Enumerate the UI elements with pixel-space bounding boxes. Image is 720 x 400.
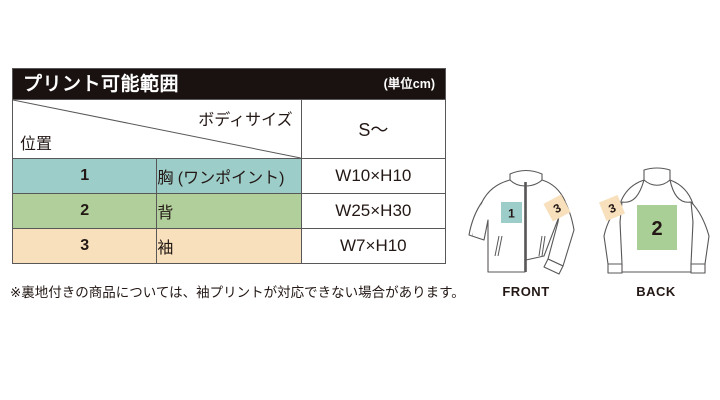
jacket-back-figure-icon: 2 3 [592, 160, 720, 282]
row-size-value: W25×H30 [301, 194, 445, 229]
back-caption: BACK [592, 284, 720, 299]
front-caption: FRONT [462, 284, 590, 299]
row-position: 背 [157, 194, 301, 229]
row-position: 胸 (ワンポイント) [157, 159, 301, 194]
footnote: ※裏地付きの商品については、袖プリントが対応できない場合があります。 [10, 284, 465, 302]
unit-note: (単位cm) [384, 78, 435, 91]
row-size-value: W7×H10 [301, 229, 445, 264]
row-position: 袖 [157, 229, 301, 264]
print-zone-marker-1-label: 1 [508, 207, 515, 221]
table-row: 1 胸 (ワンポイント) W10×H10 [13, 159, 446, 194]
row-number: 1 [13, 159, 157, 194]
position-label: 位置 [20, 130, 52, 154]
body-size-label: ボディサイズ [198, 106, 292, 130]
back-illustration: 2 3 BACK [592, 160, 720, 299]
table-row: 2 背 W25×H30 [13, 194, 446, 229]
page-title: プリント可能範囲 [23, 75, 179, 94]
row-number: 3 [13, 229, 157, 264]
print-zone-marker-2: 2 [637, 205, 677, 250]
table-title-row: プリント可能範囲 (単位cm) [13, 69, 446, 100]
size-column-header: S〜 [301, 100, 445, 159]
table-title-bar: プリント可能範囲 (単位cm) [13, 69, 446, 100]
table-row: 3 袖 W7×H10 [13, 229, 446, 264]
front-illustration: 1 3 FRONT [462, 160, 590, 299]
corner-diagonal-cell: ボディサイズ 位置 [13, 100, 302, 159]
row-size-value: W10×H10 [301, 159, 445, 194]
row-number: 2 [13, 194, 157, 229]
table-header-row: ボディサイズ 位置 S〜 [13, 100, 446, 159]
print-zone-marker-2-label: 2 [651, 218, 662, 240]
print-area-table: プリント可能範囲 (単位cm) ボディサイズ 位置 S〜 1 胸 (ワンポイント… [12, 68, 446, 264]
print-zone-marker-1: 1 [501, 202, 522, 223]
jacket-front-figure-icon: 1 3 [462, 160, 590, 282]
